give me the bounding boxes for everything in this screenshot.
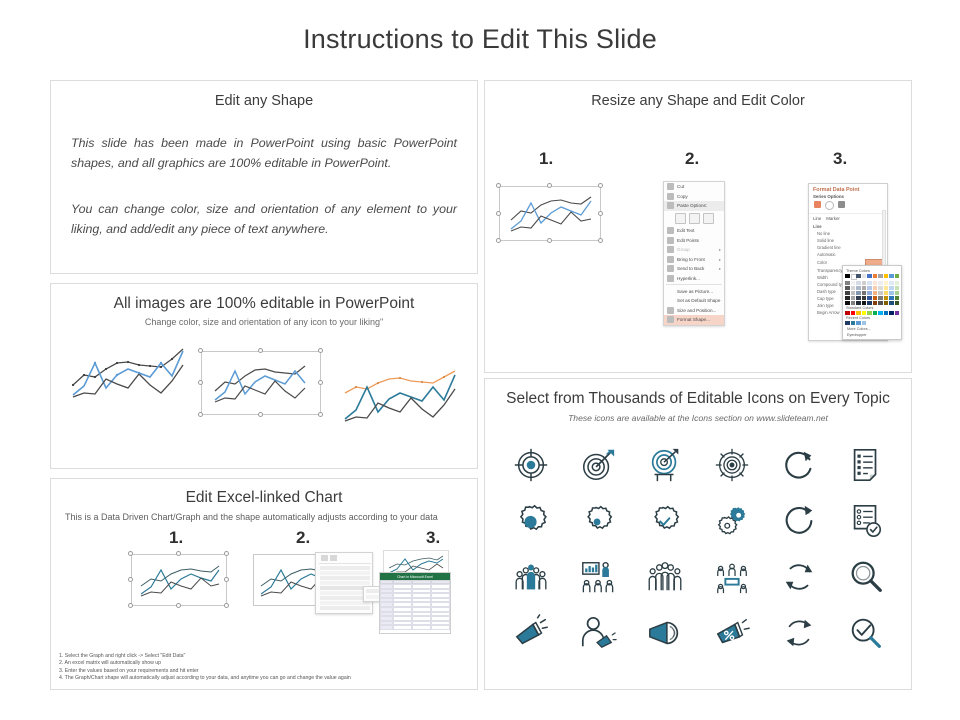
standard-colors-row[interactable] — [845, 311, 899, 315]
resize-handle-nw[interactable] — [198, 348, 203, 353]
context-menu-item-label: Format Shape... — [677, 317, 710, 322]
context-menu-item-edit-points[interactable]: Edit Points — [664, 235, 724, 245]
page-title: Instructions to Edit This Slide — [0, 24, 960, 55]
excel-instruction-2: 2. An excel matrix will automatically sh… — [59, 660, 479, 668]
edit-shape-paragraph-1: This slide has been made in PowerPoint u… — [71, 133, 457, 173]
context-menu-item-save-as-picture[interactable]: Save as Picture... — [664, 286, 724, 296]
recent-colors-row[interactable] — [845, 321, 899, 325]
context-menu-item-icon — [667, 237, 674, 244]
circular-arrow-icon[interactable] — [779, 501, 819, 541]
megaphone-percent-icon[interactable] — [712, 613, 752, 653]
context-menu-item-icon — [667, 227, 674, 234]
format-option-automatic[interactable]: Automatic — [809, 251, 887, 258]
resize-handle-sw[interactable] — [198, 412, 203, 417]
context-menu-item-hyperlink[interactable]: Hyperlink... — [664, 274, 724, 284]
context-menu-item-label: Hyperlink... — [677, 276, 700, 281]
step1-handle-n[interactable] — [176, 551, 181, 556]
context-menu-item-icon — [667, 193, 674, 200]
checklist-document-icon[interactable] — [846, 445, 886, 485]
paste-options-row[interactable] — [664, 211, 724, 226]
format-data-point-pane[interactable]: Format Data Point Series Options Line Ma… — [808, 183, 888, 341]
excel-instruction-4: 4. The Graph/Chart shape will automatica… — [59, 675, 479, 683]
paste-option-icon[interactable] — [703, 213, 714, 224]
context-menu-item-icon — [667, 202, 674, 209]
format-section-line[interactable]: Line — [809, 223, 887, 230]
icon-grid — [497, 437, 899, 661]
person-megaphone-icon[interactable] — [578, 613, 618, 653]
more-colors-item[interactable]: More Colors... — [845, 327, 899, 331]
refresh-arrow-icon[interactable] — [779, 445, 819, 485]
submenu-arrow-icon: ▸ — [719, 257, 721, 262]
context-menu-item-label: Set as Default Shape — [677, 298, 720, 303]
cycle-arrows-icon[interactable] — [779, 557, 819, 597]
resize-handle-w[interactable] — [198, 380, 203, 385]
format-pane-title: Format Data Point — [809, 184, 887, 194]
format-option-solid-line[interactable]: Solid line — [809, 237, 887, 244]
excel-step2-context-menu[interactable] — [315, 552, 373, 614]
context-menu-item-icon — [667, 288, 674, 295]
submenu-arrow-icon: ▸ — [719, 266, 721, 271]
context-menu-item-set-as-default-shape[interactable]: Set as Default Shape — [664, 296, 724, 306]
excel-step-number-1: 1. — [169, 528, 183, 548]
magnifier-icon[interactable] — [846, 557, 886, 597]
resize-handle-w-2[interactable] — [496, 211, 501, 216]
theme-colors-label: Theme Colors — [846, 269, 899, 273]
context-menu-item-bring-to-front[interactable]: Bring to Front▸ — [664, 255, 724, 265]
context-menu-item-group: Group▸ — [664, 245, 724, 255]
paste-option-icon[interactable] — [689, 213, 700, 224]
context-menu-item-paste-options[interactable]: Paste Options: — [664, 201, 724, 211]
megaphone-sound-icon[interactable] — [645, 613, 685, 653]
context-menu-item-label: Send to Back — [677, 266, 704, 271]
recent-colors-label: Recent Colors — [846, 316, 899, 320]
size-properties-icon[interactable] — [838, 201, 845, 208]
format-pane-subtitle: Series Options — [809, 194, 887, 201]
context-menu-item-icon — [667, 307, 674, 314]
step1-handle-sw[interactable] — [128, 603, 133, 608]
context-menu-item-edit-text[interactable]: Edit Text — [664, 226, 724, 236]
resize-handle-e-2[interactable] — [598, 211, 603, 216]
panel-icons: Select from Thousands of Editable Icons … — [484, 378, 912, 690]
context-menu-item-icon — [667, 265, 674, 272]
panel-subtitle-icons: These icons are available at the Icons s… — [485, 413, 911, 423]
presentation-audience-icon[interactable] — [578, 557, 618, 597]
step1-handle-ne[interactable] — [224, 551, 229, 556]
context-menu-item-label: Copy — [677, 194, 688, 199]
tab-marker[interactable]: Marker — [826, 216, 840, 221]
cycle-arrows-alt-icon[interactable] — [779, 613, 819, 653]
panel-images-editable: All images are 100% editable in PowerPoi… — [50, 283, 478, 469]
excel-titlebar-label: Chart in Microsoft Excel — [397, 575, 433, 579]
resize-handle-sw-2[interactable] — [496, 238, 501, 243]
resize-handle-se[interactable] — [318, 412, 323, 417]
excel-titlebar: Chart in Microsoft Excel — [380, 573, 450, 580]
effects-icon[interactable] — [825, 201, 834, 210]
slide-canvas: Instructions to Edit This Slide Edit any… — [0, 0, 960, 720]
color-picker-popup[interactable]: Theme Colors Standard Colors Recent Colo… — [842, 265, 902, 340]
excel-instruction-3: 3. Enter the values based on your requir… — [59, 668, 479, 676]
format-field-color-label: Color — [817, 260, 827, 265]
resize-handle-ne-2[interactable] — [598, 183, 603, 188]
dartboard-dart-icon[interactable] — [578, 445, 618, 485]
checklist-approved-icon[interactable] — [846, 501, 886, 541]
context-menu-item-format-shape[interactable]: Format Shape... — [664, 315, 724, 325]
context-menu-item-label: Edit Text — [677, 228, 695, 233]
gear-filled-icon[interactable] — [511, 501, 551, 541]
step1-handle-nw[interactable] — [128, 551, 133, 556]
step1-handle-w[interactable] — [128, 577, 133, 582]
context-menu-item-icon — [667, 316, 674, 323]
excel-step-number-2: 2. — [296, 528, 310, 548]
resize-handle-n[interactable] — [258, 348, 263, 353]
format-option-no-line[interactable]: No line — [809, 230, 887, 237]
resize-handle-nw-2[interactable] — [496, 183, 501, 188]
double-gear-icon[interactable] — [712, 501, 752, 541]
fill-icon[interactable] — [814, 201, 821, 208]
resize-step-number-1: 1. — [539, 149, 553, 169]
context-menu-item-size-and-position[interactable]: Size and Position... — [664, 306, 724, 316]
line-chart-graphic-1[interactable] — [69, 345, 187, 407]
paste-option-icon[interactable] — [675, 213, 686, 224]
panel-title-icons: Select from Thousands of Editable Icons … — [485, 390, 911, 408]
format-option-gradient-line[interactable]: Gradient line — [809, 244, 887, 251]
context-menu-item-icon — [667, 183, 674, 190]
panel-title-edit-shape: Edit any Shape — [51, 93, 477, 109]
excel-step1-chart[interactable] — [131, 554, 227, 606]
context-menu-item-icon — [667, 275, 674, 282]
context-menu-item-icon — [667, 246, 674, 253]
standard-colors-label: Standard Colors — [846, 306, 899, 310]
resize-handle-s[interactable] — [258, 412, 263, 417]
context-menu-item-icon — [667, 256, 674, 263]
eyedropper-item[interactable]: Eyedropper — [845, 333, 899, 337]
crosshair-target-icon[interactable] — [712, 445, 752, 485]
resize-step1-chart[interactable] — [499, 186, 601, 241]
resize-handle-e[interactable] — [318, 380, 323, 385]
panel-title-images-editable: All images are 100% editable in PowerPoi… — [51, 295, 477, 313]
resize-handle-ne[interactable] — [318, 348, 323, 353]
gear-small-icon[interactable] — [578, 501, 618, 541]
context-menu-item-label: Bring to Front — [677, 257, 705, 262]
context-menu-item-label: Size and Position... — [677, 308, 716, 313]
context-menu-item-label: Edit Points — [677, 238, 699, 243]
people-group-icon[interactable] — [645, 557, 685, 597]
panel-resize-shape: Resize any Shape and Edit Color 1. 2. 3.… — [484, 80, 912, 373]
theme-colors-grid[interactable] — [845, 274, 899, 305]
excel-cells[interactable] — [380, 584, 450, 630]
context-menu-item-icon — [667, 297, 674, 304]
powerpoint-context-menu[interactable]: CutCopyPaste Options:Edit TextEdit Point… — [663, 181, 725, 326]
context-menu-item-label: Paste Options: — [677, 203, 707, 208]
context-menu-separator — [666, 284, 722, 285]
excel-spreadsheet-mock[interactable]: Chart in Microsoft Excel — [379, 572, 451, 634]
panel-subtitle-excel-chart: This is a Data Driven Chart/Graph and th… — [65, 511, 463, 524]
context-menu-item-label: Group — [677, 247, 690, 252]
resize-handle-s-2[interactable] — [547, 238, 552, 243]
target-crosshair-icon[interactable] — [511, 445, 551, 485]
megaphone-icon[interactable] — [511, 613, 551, 653]
context-menu-item-cut[interactable]: Cut — [664, 182, 724, 192]
resize-handle-se-2[interactable] — [598, 238, 603, 243]
step1-handle-se[interactable] — [224, 603, 229, 608]
resize-handle-n-2[interactable] — [547, 183, 552, 188]
excel-instruction-1: 1. Select the Graph and right click -> S… — [59, 653, 479, 661]
format-pane-tabs[interactable]: Line Marker — [809, 213, 887, 223]
resize-step-number-2: 2. — [685, 149, 699, 169]
excel-step-number-3: 3. — [426, 528, 440, 548]
edit-shape-paragraph-2: You can change color, size and orientati… — [71, 199, 457, 239]
panel-edit-any-shape: Edit any Shape This slide has been made … — [50, 80, 478, 274]
team-group-icon[interactable] — [511, 557, 551, 597]
step1-handle-s[interactable] — [176, 603, 181, 608]
tab-line[interactable]: Line — [813, 216, 821, 221]
context-menu-item-send-to-back[interactable]: Send to Back▸ — [664, 264, 724, 274]
context-menu-item-copy[interactable]: Copy — [664, 192, 724, 202]
panel-title-excel-chart: Edit Excel-linked Chart — [51, 489, 477, 507]
excel-steps: 1. 2. 3. — [51, 526, 477, 636]
line-chart-graphic-3[interactable] — [341, 369, 459, 431]
resize-step-number-3: 3. — [833, 149, 847, 169]
format-pane-icon-row[interactable] — [809, 201, 887, 213]
magnifier-check-icon[interactable] — [846, 613, 886, 653]
panel-excel-linked-chart: Edit Excel-linked Chart This is a Data D… — [50, 478, 478, 690]
excel-instructions: 1. Select the Graph and right click -> S… — [59, 653, 479, 683]
context-menu-item-label: Cut — [677, 184, 684, 189]
line-chart-graphic-2-selected[interactable] — [201, 351, 321, 415]
gear-check-icon[interactable] — [645, 501, 685, 541]
step1-handle-e[interactable] — [224, 577, 229, 582]
submenu-arrow-icon: ▸ — [719, 247, 721, 252]
context-menu-item-label: Save as Picture... — [677, 289, 713, 294]
meeting-table-icon[interactable] — [712, 557, 752, 597]
panel-subtitle-images-editable: Change color, size and orientation of an… — [51, 317, 477, 327]
panel-title-resize-shape: Resize any Shape and Edit Color — [485, 93, 911, 109]
target-stand-icon[interactable] — [645, 445, 685, 485]
sample-graphs-row — [51, 335, 477, 455]
